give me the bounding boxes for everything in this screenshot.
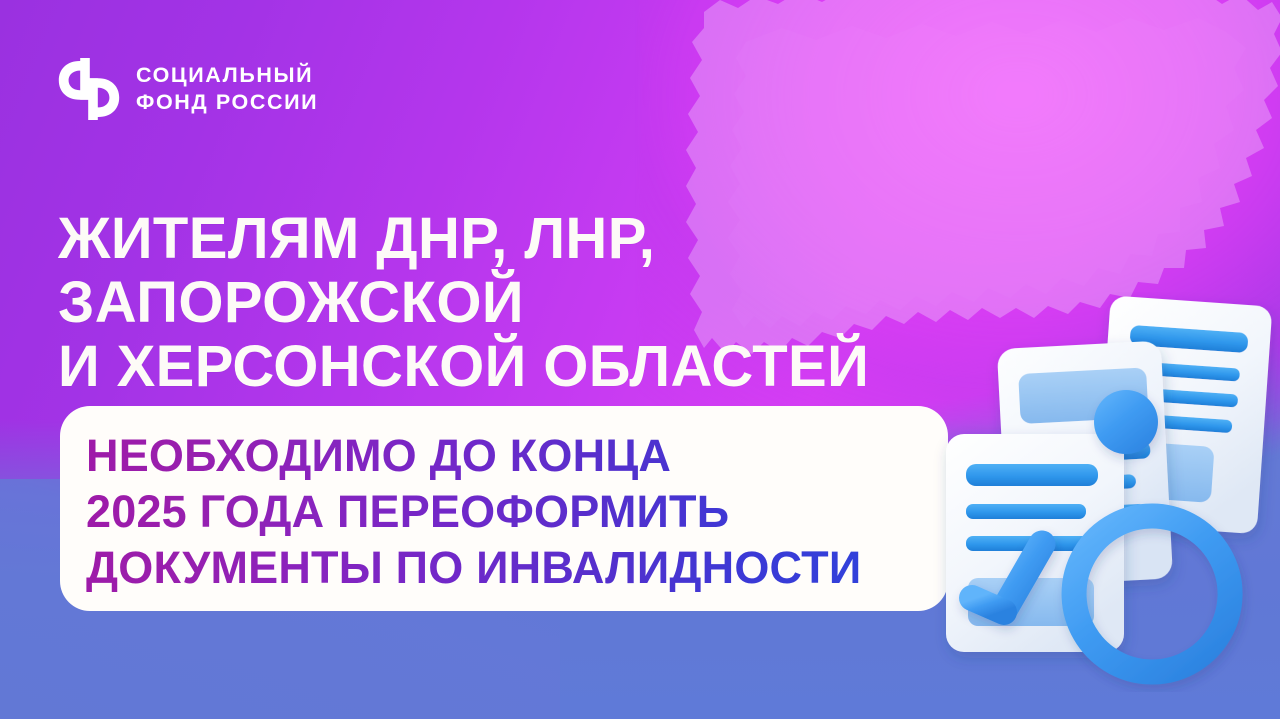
page-headline: ЖИТЕЛЯМ ДНР, ЛНР, ЗАПОРОЖСКОЙ И ХЕРСОНСК… [58, 207, 1018, 399]
documents-and-wheelchair-illustration [930, 292, 1280, 692]
callout-card: НЕОБХОДИМО ДО КОНЦА 2025 ГОДА ПЕРЕОФОРМИ… [60, 406, 948, 611]
sfr-logo: СОЦИАЛЬНЫЙ ФОНД РОССИИ [58, 58, 318, 120]
sfr-logo-text: СОЦИАЛЬНЫЙ ФОНД РОССИИ [136, 62, 318, 116]
poster-canvas: СОЦИАЛЬНЫЙ ФОНД РОССИИ ЖИТЕЛЯМ ДНР, ЛНР,… [0, 0, 1280, 719]
callout-text: НЕОБХОДИМО ДО КОНЦА 2025 ГОДА ПЕРЕОФОРМИ… [86, 428, 936, 596]
sfr-monogram-icon [58, 58, 120, 120]
